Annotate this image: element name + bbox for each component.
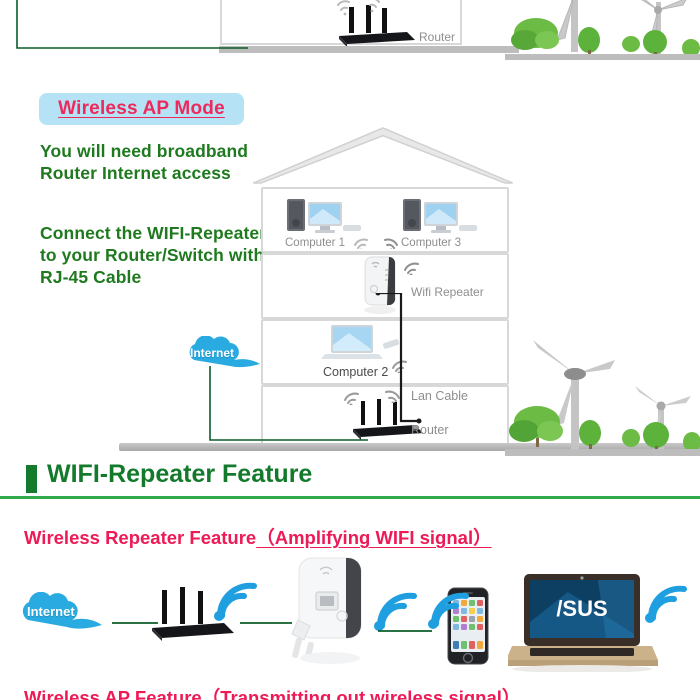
- windmill-scene-top: [505, 0, 700, 62]
- wifi-icon: [640, 578, 694, 626]
- chain-link-2: [240, 620, 296, 626]
- top-house-strip: Router: [219, 0, 499, 62]
- feature-section-heading: WIFI-Repeater Feature: [0, 460, 700, 498]
- wireless-ap-mode-badge: Wireless AP Mode: [39, 93, 244, 125]
- repeater-feature-subtitle-paren: （Amplifying WIFI signal）: [256, 527, 491, 548]
- repeater-icon: [290, 554, 374, 666]
- top-green-connector: [0, 0, 260, 62]
- wifi-icon: [351, 233, 373, 249]
- top-floor-svg: [219, 0, 519, 62]
- wifi-icon: [208, 576, 264, 624]
- laptop-brand-text: /SUS: [556, 596, 607, 621]
- windmill-scene-bottom: [505, 330, 700, 456]
- repeater-feature-chain: Internet: [0, 548, 700, 680]
- ap-feature-subtitle-paren: （Transmitting out wireless signal）: [202, 687, 521, 700]
- wifi-icon: [368, 586, 424, 634]
- wifi-icon: [424, 586, 476, 632]
- heading-accent-bar: [26, 465, 37, 493]
- tree-icon: [509, 406, 700, 452]
- repeater-feature-subtitle: Wireless Repeater Feature（Amplifying WIF…: [24, 524, 492, 550]
- house-roof: [243, 125, 523, 185]
- computer1-label: Computer 1: [285, 237, 345, 249]
- wireless-ap-mode-label: Wireless AP Mode: [58, 98, 225, 120]
- feature-heading-text: WIFI-Repeater Feature: [47, 460, 312, 489]
- laptop-icon: /SUS: [508, 572, 658, 672]
- tree-icon: [511, 18, 700, 58]
- desktop-computer-icon: [401, 193, 481, 239]
- computer3-label: Computer 3: [401, 237, 461, 249]
- chain-internet-label: Internet: [27, 604, 75, 619]
- wifi-icon: [401, 257, 423, 275]
- internet-green-connector: [200, 358, 380, 450]
- top-router-label: Router: [419, 30, 455, 44]
- product-info-page: Router: [0, 0, 700, 700]
- repeater-feature-subtitle-main: Wireless Repeater Feature: [24, 527, 256, 548]
- ap-feature-subtitle-main: Wireless AP Feature: [24, 687, 202, 700]
- wifi-icon: [379, 233, 401, 249]
- ap-feature-subtitle: Wireless AP Feature（Transmitting out wir…: [24, 684, 520, 700]
- heading-divider: [0, 496, 700, 499]
- lan-cable-line: [373, 293, 433, 428]
